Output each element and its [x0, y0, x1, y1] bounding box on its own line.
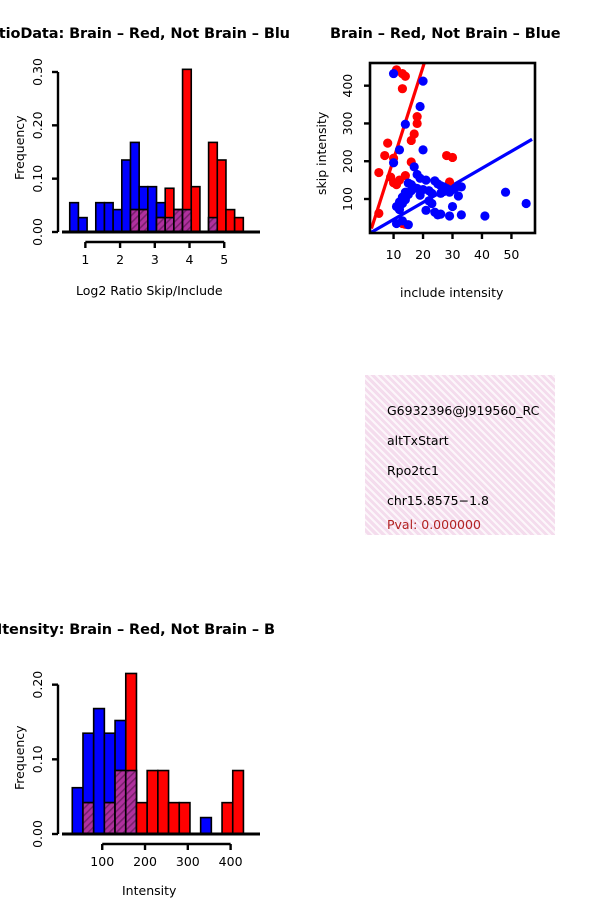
histogram-bar-blue: [94, 709, 105, 834]
histogram-bar-overlap: [130, 210, 139, 232]
scatter-point: [395, 205, 404, 214]
histogram-bar-blue: [148, 187, 157, 232]
histogram-bar-blue: [113, 210, 122, 232]
tick-label: 1: [81, 252, 89, 267]
panel-intensity-scatter: Brain – Red, Not Brain – Blue skip inten…: [300, 0, 600, 300]
scatter-point: [401, 72, 410, 81]
ratio-histogram-title: RatioData: Brain – Red, Not Brain – Blu: [0, 26, 290, 42]
histogram-bar-blue: [78, 218, 87, 232]
histogram-bar-overlap: [83, 803, 94, 834]
annotation-event-type: altTxStart: [387, 433, 449, 448]
scatter-point: [404, 220, 413, 229]
histogram-bar-overlap: [115, 771, 126, 834]
tick-label: 0.30: [30, 58, 45, 86]
histogram-bar-blue: [201, 818, 212, 834]
annotation-pvalue: Pval: 0.000000: [387, 517, 481, 532]
intensity-histogram-x-axis-label: Intensity: [122, 883, 176, 898]
tick-label: 4: [186, 252, 194, 267]
tick-label: 0.00: [30, 820, 45, 848]
scatter-point: [392, 219, 401, 228]
histogram-bar-red: [217, 160, 226, 232]
tick-label: 0.10: [30, 745, 45, 773]
tick-label: 20: [415, 247, 431, 262]
scatter-point: [410, 129, 419, 138]
histogram-bar-overlap: [139, 210, 148, 232]
tick-label: 10: [386, 247, 402, 262]
scatter-point: [398, 84, 407, 93]
annotation-gene-symbol: Rpo2tc1: [387, 463, 439, 478]
scatter-point: [427, 189, 436, 198]
tick-label: 0.20: [30, 111, 45, 139]
scatter-point: [415, 191, 424, 200]
scatter-point: [415, 102, 424, 111]
scatter-point: [522, 199, 531, 208]
scatter-x-axis-label: include intensity: [400, 285, 503, 300]
scatter-point: [448, 202, 457, 211]
scatter-point: [457, 210, 466, 219]
scatter-point: [401, 120, 410, 129]
scatter-point: [413, 112, 422, 121]
tick-label: 300: [340, 111, 355, 135]
scatter-point: [380, 151, 389, 160]
histogram-bar-overlap: [165, 218, 174, 232]
annotation-probe-id: G6932396@J919560_RC: [387, 403, 539, 418]
histogram-bar-blue: [122, 160, 131, 232]
scatter-point: [389, 69, 398, 78]
tick-label: 30: [445, 247, 461, 262]
tick-label: 300: [176, 854, 200, 869]
intensity-histogram-plot: 0.000.100.20100200300400: [20, 652, 270, 882]
scatter-point: [448, 153, 457, 162]
histogram-bar-overlap: [157, 218, 166, 232]
histogram-bar-blue: [72, 788, 83, 834]
scatter-point: [436, 210, 445, 219]
scatter-point: [389, 158, 398, 167]
histogram-bar-red: [136, 803, 147, 834]
scatter-title: Brain – Red, Not Brain – Blue: [330, 26, 561, 42]
ratio-histogram-x-axis-label: Log2 Ratio Skip/Include: [76, 283, 223, 298]
histogram-bar-overlap: [126, 771, 137, 834]
scatter-point: [501, 188, 510, 197]
histogram-bar-red: [183, 69, 192, 232]
scatter-point: [436, 189, 445, 198]
scatter-point: [480, 211, 489, 220]
histogram-bar-red: [222, 803, 233, 834]
histogram-bar-blue: [104, 203, 113, 232]
scatter-plot: 1002003004001020304050: [320, 50, 570, 280]
tick-label: 40: [474, 247, 490, 262]
scatter-point: [421, 176, 430, 185]
tick-label: 50: [503, 247, 519, 262]
panel-intensity-histogram: ne Itensity: Brain – Red, Not Brain – B …: [0, 300, 300, 600]
tick-label: 0.20: [30, 671, 45, 699]
histogram-bar-red: [233, 771, 244, 834]
tick-label: 0.00: [30, 218, 45, 246]
histogram-bar-overlap: [209, 218, 218, 232]
histogram-bar-red: [158, 771, 169, 834]
scatter-point: [395, 145, 404, 154]
scatter-point: [454, 191, 463, 200]
tick-label: 200: [340, 149, 355, 173]
tick-label: 5: [220, 252, 228, 267]
histogram-bar-red: [235, 218, 244, 232]
tick-label: 200: [133, 854, 157, 869]
scatter-point: [445, 211, 454, 220]
histogram-bar-red: [169, 803, 180, 834]
histogram-bar-overlap: [174, 210, 183, 232]
tick-label: 100: [340, 187, 355, 211]
scatter-point: [418, 145, 427, 154]
scatter-point: [383, 138, 392, 147]
intensity-histogram-title: ne Itensity: Brain – Red, Not Brain – B: [0, 622, 275, 638]
histogram-bar-red: [147, 771, 158, 834]
histogram-bar-overlap: [183, 210, 192, 232]
histogram-bar-red: [226, 210, 235, 232]
scatter-point: [457, 182, 466, 191]
histogram-bar-red: [191, 187, 200, 232]
tick-label: 400: [340, 74, 355, 98]
panel-ratio-histogram: RatioData: Brain – Red, Not Brain – Blu …: [0, 0, 300, 300]
tick-label: 100: [90, 854, 114, 869]
histogram-bar-overlap: [104, 803, 115, 834]
scatter-point: [374, 209, 383, 218]
histogram-bar-red: [179, 803, 190, 834]
annotation-panel: G6932396@J919560_RC altTxStart Rpo2tc1 c…: [365, 375, 555, 535]
histogram-bar-blue: [96, 203, 105, 232]
tick-label: 0.10: [30, 165, 45, 193]
scatter-point: [418, 77, 427, 86]
histogram-bar-blue: [70, 203, 79, 232]
annotation-locus: chr15.8575−1.8: [387, 493, 489, 508]
scatter-point: [421, 206, 430, 215]
tick-label: 2: [116, 252, 124, 267]
tick-label: 3: [151, 252, 159, 267]
tick-label: 400: [219, 854, 243, 869]
scatter-point: [374, 168, 383, 177]
ratio-histogram-plot: 0.000.100.200.3012345: [20, 50, 270, 280]
